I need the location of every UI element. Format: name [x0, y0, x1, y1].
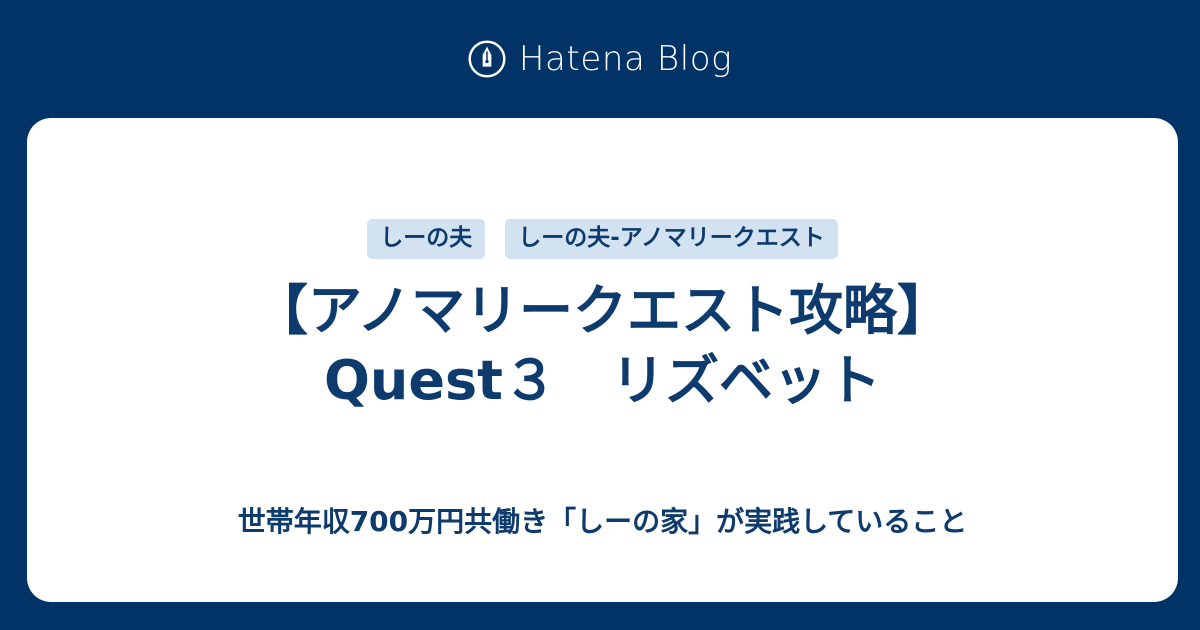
brand-name: Hatena Blog — [519, 42, 732, 76]
brand-header: Hatena Blog — [0, 0, 1200, 118]
hatena-pen-nib-icon — [468, 40, 506, 78]
entry-title: 【アノマリークエスト攻略】 Quest３ リズベット — [87, 276, 1118, 416]
entry-title-line-2: Quest３ リズベット — [87, 346, 1118, 416]
blog-subtitle: 世帯年収700万円共働き「しーの家」が実践していること — [67, 505, 1138, 539]
entry-title-line-1: 【アノマリークエスト攻略】 — [87, 276, 1118, 346]
entry-card-inner: しーの夫 しーの夫-アノマリークエスト 【アノマリークエスト攻略】 Quest３… — [27, 118, 1178, 602]
tag-badge-1[interactable]: しーの夫 — [367, 219, 485, 259]
entry-card: しーの夫 しーの夫-アノマリークエスト 【アノマリークエスト攻略】 Quest３… — [27, 118, 1178, 602]
tag-list: しーの夫 しーの夫-アノマリークエスト — [27, 219, 1178, 259]
tag-badge-2[interactable]: しーの夫-アノマリークエスト — [505, 219, 837, 259]
